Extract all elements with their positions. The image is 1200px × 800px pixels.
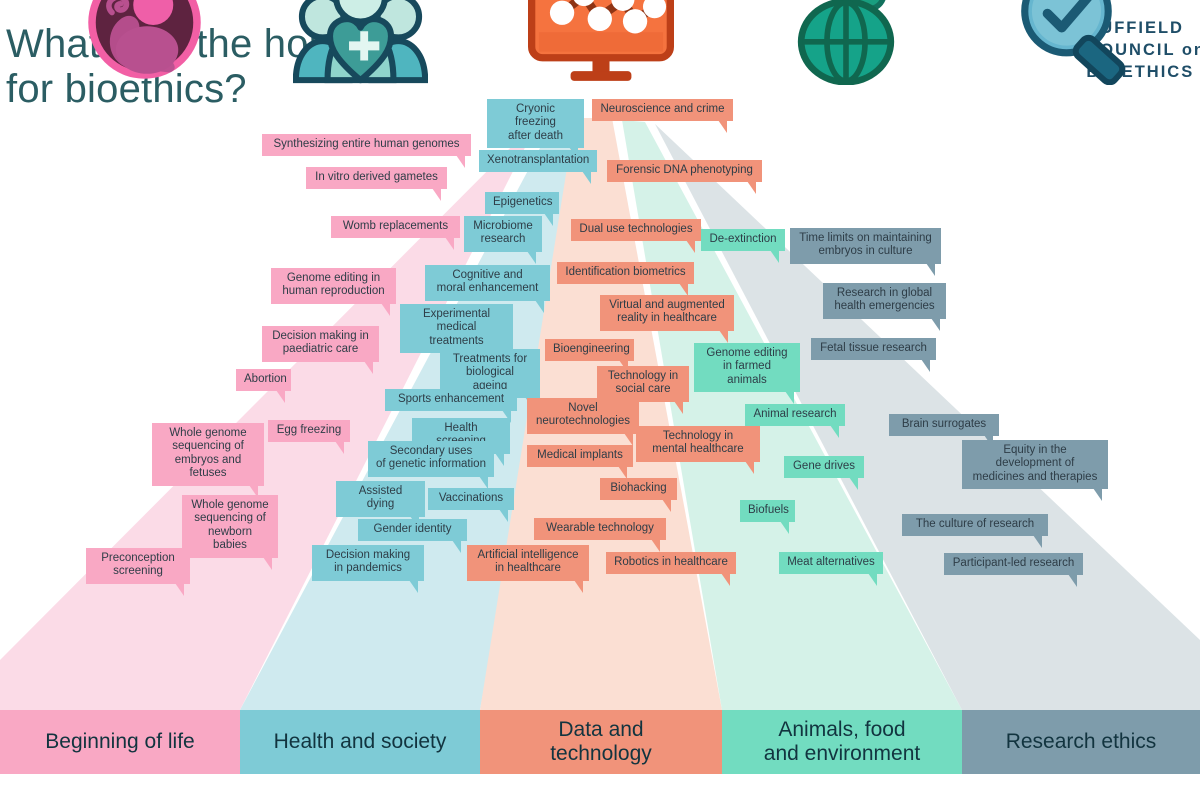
label-tail: [651, 539, 660, 552]
label-tail: [674, 401, 683, 414]
label-tail: [624, 433, 633, 446]
label-tail: [456, 155, 465, 168]
label-tail: [785, 391, 794, 404]
category-animals-food-and-environment[interactable]: Animals, food and environment: [722, 710, 962, 774]
category-beginning-of-life[interactable]: Beginning of life: [0, 710, 240, 774]
label-tail: [452, 540, 461, 553]
label-tail: [445, 237, 454, 250]
topic-label[interactable]: Fetal tissue research: [811, 338, 936, 360]
label-tail: [780, 521, 789, 534]
infographic-canvas: What’s on the horizon for bioethics? NUF…: [0, 0, 1200, 800]
apple-globe-icon: [790, 0, 902, 85]
topic-label[interactable]: Abortion: [236, 369, 291, 391]
topic-label[interactable]: Sports enhancement: [385, 389, 517, 411]
label-tail: [527, 251, 536, 264]
topic-label[interactable]: Technology in mental healthcare: [636, 426, 760, 462]
label-tail: [718, 120, 727, 133]
topic-label[interactable]: Xenotransplantation: [479, 150, 597, 172]
topic-label[interactable]: Gene drives: [784, 456, 864, 478]
category-health-and-society[interactable]: Health and society: [240, 710, 480, 774]
topic-label[interactable]: Synthesizing entire human genomes: [262, 134, 471, 156]
icon-people-wrap: [293, 0, 428, 90]
topic-label[interactable]: Genome editing in farmed animals: [694, 343, 800, 392]
label-tail: [175, 583, 184, 596]
label-tail: [921, 359, 930, 372]
label-tail: [721, 573, 730, 586]
topic-label[interactable]: Neuroscience and crime: [592, 99, 733, 121]
category-data-and-technology[interactable]: Data and technology: [480, 710, 722, 774]
label-tail: [263, 557, 272, 570]
topic-label[interactable]: Biohacking: [600, 478, 677, 500]
label-tail: [868, 573, 877, 586]
label-tail: [1068, 574, 1077, 587]
topic-label[interactable]: Research in global health emergencies: [823, 283, 946, 319]
topic-label[interactable]: Artificial intelligence in healthcare: [467, 545, 589, 581]
people-heart-icon: [293, 0, 428, 85]
topic-label[interactable]: Egg freezing: [268, 420, 350, 442]
topic-label[interactable]: Animal research: [745, 404, 845, 426]
topic-label[interactable]: Robotics in healthcare: [606, 552, 736, 574]
monitor-molecule-icon: [528, 0, 674, 85]
label-tail: [1093, 488, 1102, 501]
label-tail: [830, 425, 839, 438]
topic-label[interactable]: Secondary uses of genetic information: [368, 441, 494, 477]
topic-label[interactable]: Meat alternatives: [779, 552, 883, 574]
label-tail: [535, 300, 544, 313]
label-tail: [364, 361, 373, 374]
label-tail: [335, 441, 344, 454]
label-tail: [432, 188, 441, 201]
topic-label[interactable]: Dual use technologies: [571, 219, 701, 241]
label-tail: [409, 580, 418, 593]
label-tail: [662, 499, 671, 512]
topic-label[interactable]: Womb replacements: [331, 216, 460, 238]
label-tail: [582, 171, 591, 184]
topic-label[interactable]: Cryonic freezing after death: [487, 99, 584, 148]
category-research-ethics[interactable]: Research ethics: [962, 710, 1200, 774]
topic-label[interactable]: Microbiome research: [464, 216, 542, 252]
topic-label[interactable]: Epigenetics: [485, 192, 559, 214]
topic-label[interactable]: Medical implants: [527, 445, 633, 467]
topic-label[interactable]: De-extinction: [701, 229, 785, 251]
label-tail: [544, 213, 553, 226]
topic-label[interactable]: Time limits on maintaining embryos in cu…: [790, 228, 941, 264]
icon-embryo-wrap: [82, 0, 207, 90]
label-tail: [686, 240, 695, 253]
topic-label[interactable]: Vaccinations: [428, 488, 514, 510]
topic-label[interactable]: Cognitive and moral enhancement: [425, 265, 550, 301]
topic-label[interactable]: Whole genome sequencing of newborn babie…: [182, 495, 278, 558]
topic-label[interactable]: Virtual and augmented reality in healthc…: [600, 295, 734, 331]
topic-label[interactable]: Brain surrogates: [889, 414, 999, 436]
topic-label[interactable]: Technology in social care: [597, 366, 689, 402]
label-tail: [1033, 535, 1042, 548]
topic-label[interactable]: Forensic DNA phenotyping: [607, 160, 762, 182]
label-tail: [926, 263, 935, 276]
icon-monitor-wrap: [528, 0, 674, 90]
topic-label[interactable]: Preconception screening: [86, 548, 190, 584]
icon-apple-wrap: [790, 0, 902, 90]
topic-label[interactable]: Identification biometrics: [557, 262, 694, 284]
topic-label[interactable]: Genome editing in human reproduction: [271, 268, 396, 304]
label-tail: [381, 303, 390, 316]
magnifier-check-icon: [1016, 0, 1142, 85]
topic-label[interactable]: Gender identity: [358, 519, 467, 541]
label-tail: [574, 580, 583, 593]
topic-label[interactable]: Wearable technology: [534, 518, 666, 540]
label-tail: [849, 477, 858, 490]
topic-label[interactable]: Participant-led research: [944, 553, 1083, 575]
topic-label[interactable]: Biofuels: [740, 500, 795, 522]
label-tail: [747, 181, 756, 194]
label-tail: [770, 250, 779, 263]
topic-label[interactable]: Equity in the development of medicines a…: [962, 440, 1108, 489]
topic-label[interactable]: Decision making in pandemics: [312, 545, 424, 581]
label-tail: [719, 330, 728, 343]
label-tail: [499, 509, 508, 522]
icon-magnifier-wrap: [1016, 0, 1142, 90]
topic-label[interactable]: In vitro derived gametes: [306, 167, 447, 189]
label-tail: [931, 318, 940, 331]
category-bar: Beginning of lifeHealth and societyData …: [0, 710, 1200, 774]
topic-label[interactable]: Decision making in paediatric care: [262, 326, 379, 362]
topic-label[interactable]: Novel neurotechnologies: [527, 398, 639, 434]
label-tail: [479, 476, 488, 489]
topic-label[interactable]: Bioengineering: [545, 339, 634, 361]
topic-label[interactable]: Whole genome sequencing of embryos and f…: [152, 423, 264, 486]
embryo-icon: [82, 0, 207, 85]
label-tail: [495, 453, 504, 466]
topic-label[interactable]: Assisted dying: [336, 481, 425, 517]
label-tail: [745, 461, 754, 474]
label-tail: [276, 390, 285, 403]
topic-label[interactable]: The culture of research: [902, 514, 1048, 536]
topic-label[interactable]: Experimental medical treatments: [400, 304, 513, 353]
